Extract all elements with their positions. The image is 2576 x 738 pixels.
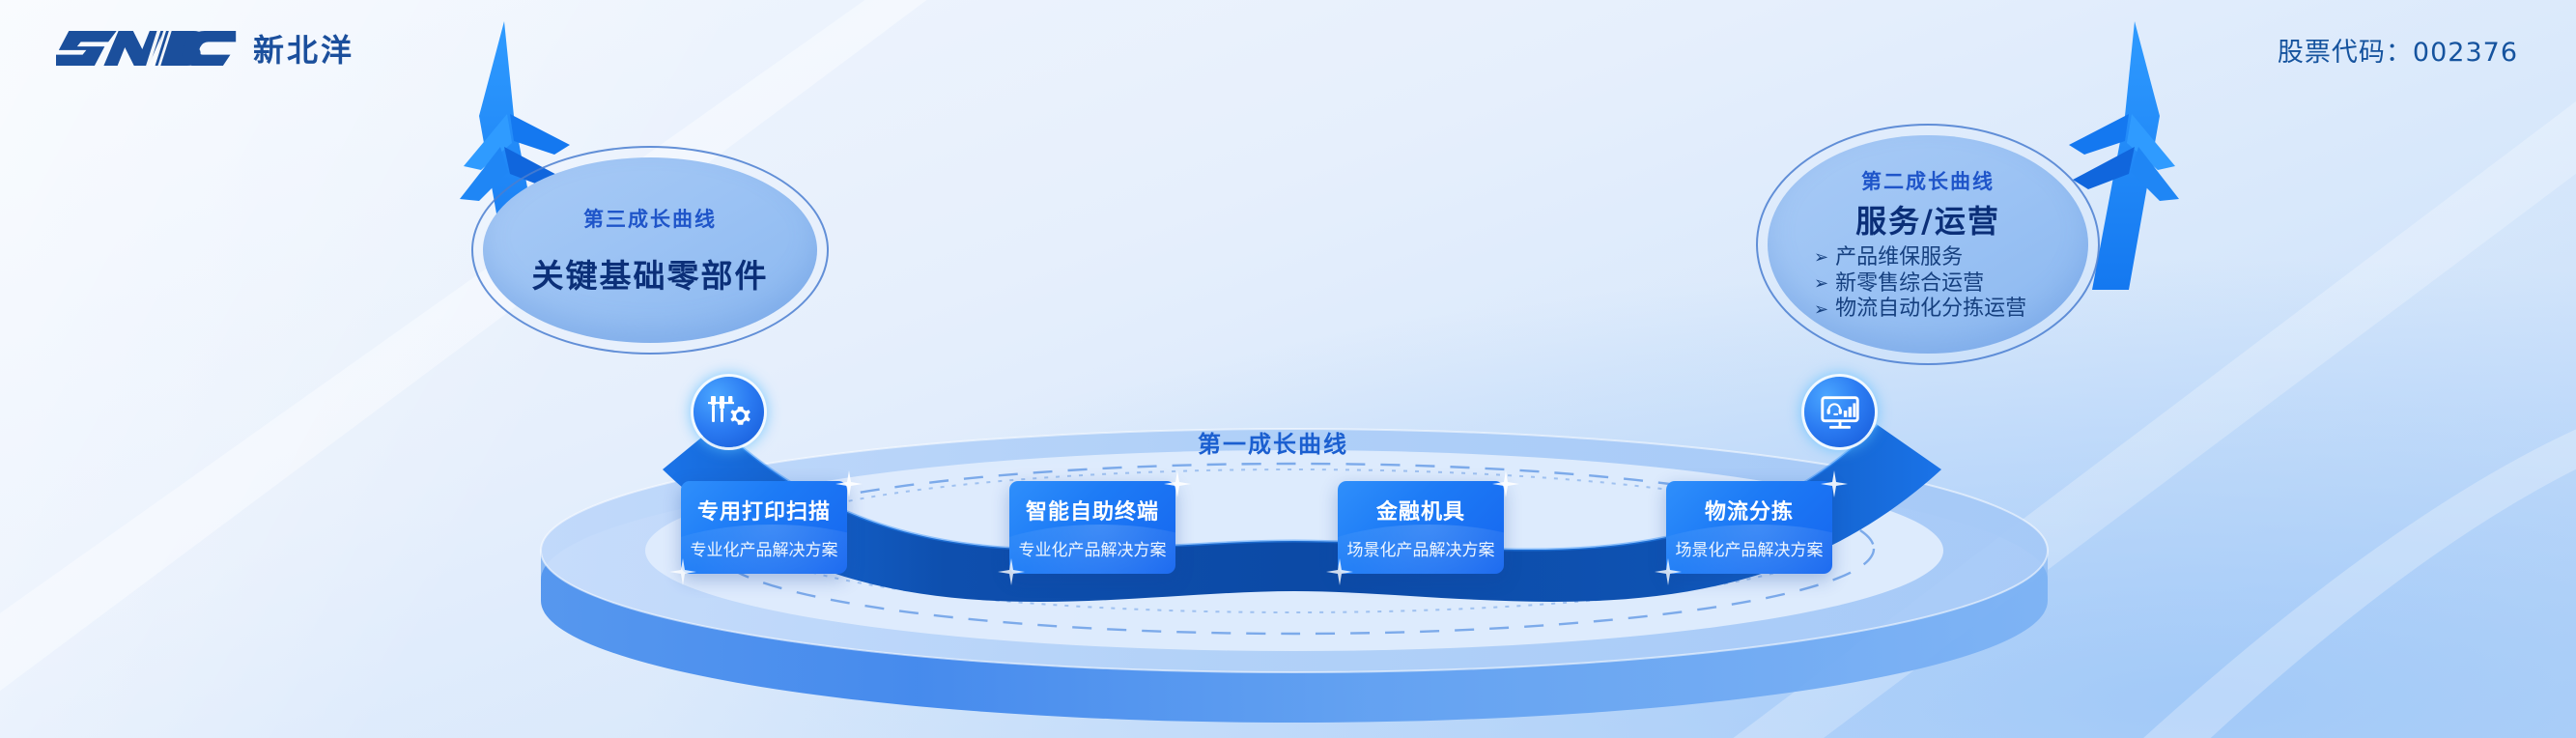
product-card-self-service-terminal[interactable]: 智能自助终端 专业化产品解决方案 [1009,481,1175,574]
second-curve-subtitle: 第二成长曲线 [1793,166,2063,195]
card-title: 专用打印扫描 [697,495,831,525]
list-item: ➢ 物流自动化分拣运营 [1814,297,2026,323]
second-curve-title: 服务/运营 [1793,197,2063,241]
third-curve-subtitle: 第三成长曲线 [508,204,792,233]
bullet-arrow-icon: ➢ [1814,273,1828,295]
card-subtitle: 专业化产品解决方案 [691,536,838,560]
product-card-printing-scanning[interactable]: 专用打印扫描 专业化产品解决方案 [681,481,847,574]
product-card-financial-equipment[interactable]: 金融机具 场景化产品解决方案 [1338,481,1504,574]
card-subtitle: 场景化产品解决方案 [1347,536,1495,560]
background-artwork [0,0,2576,738]
list-item: ➢ 新零售综合运营 [1814,271,1984,298]
list-item-label: 新零售综合运营 [1835,271,1984,298]
second-growth-curve-bubble: 第二成长曲线 服务/运营 ➢ 产品维保服务 ➢ 新零售综合运营 ➢ 物流自动化分… [1768,135,2088,354]
snbc-logo-icon [56,23,240,73]
card-title: 智能自助终端 [1026,495,1159,525]
stock-code-label: 股票代码：002376 [2278,31,2518,69]
brand-logo: 新北洋 [56,23,354,73]
card-subtitle: 场景化产品解决方案 [1676,536,1824,560]
monitor-headset-chart-glyph [1818,390,1862,435]
bullet-arrow-icon: ➢ [1814,299,1828,321]
card-title: 物流分拣 [1705,495,1794,525]
list-item: ➢ 产品维保服务 [1814,245,1963,271]
card-title: 金融机具 [1376,495,1465,525]
list-item-label: 产品维保服务 [1835,245,1963,271]
monitor-headset-chart-icon [1804,377,1875,447]
product-card-logistics-sorting[interactable]: 物流分拣 场景化产品解决方案 [1666,481,1832,574]
infographic-canvas: 新北洋 股票代码：002376 第三成长曲线 关键基础零部件 第二成长曲线 服务… [0,0,2576,738]
card-subtitle: 专业化产品解决方案 [1019,536,1167,560]
second-curve-bullet-list: ➢ 产品维保服务 ➢ 新零售综合运营 ➢ 物流自动化分拣运营 [1793,245,2063,323]
first-growth-curve-label: 第一成长曲线 [1198,425,1348,459]
sliders-gear-icon [694,377,764,447]
list-item-label: 物流自动化分拣运营 [1835,297,2026,323]
logo-chinese-name: 新北洋 [253,26,354,71]
bullet-arrow-icon: ➢ [1814,247,1828,269]
third-growth-curve-bubble: 第三成长曲线 关键基础零部件 [483,157,817,343]
sliders-gear-glyph [706,389,752,436]
third-curve-title: 关键基础零部件 [508,250,792,297]
